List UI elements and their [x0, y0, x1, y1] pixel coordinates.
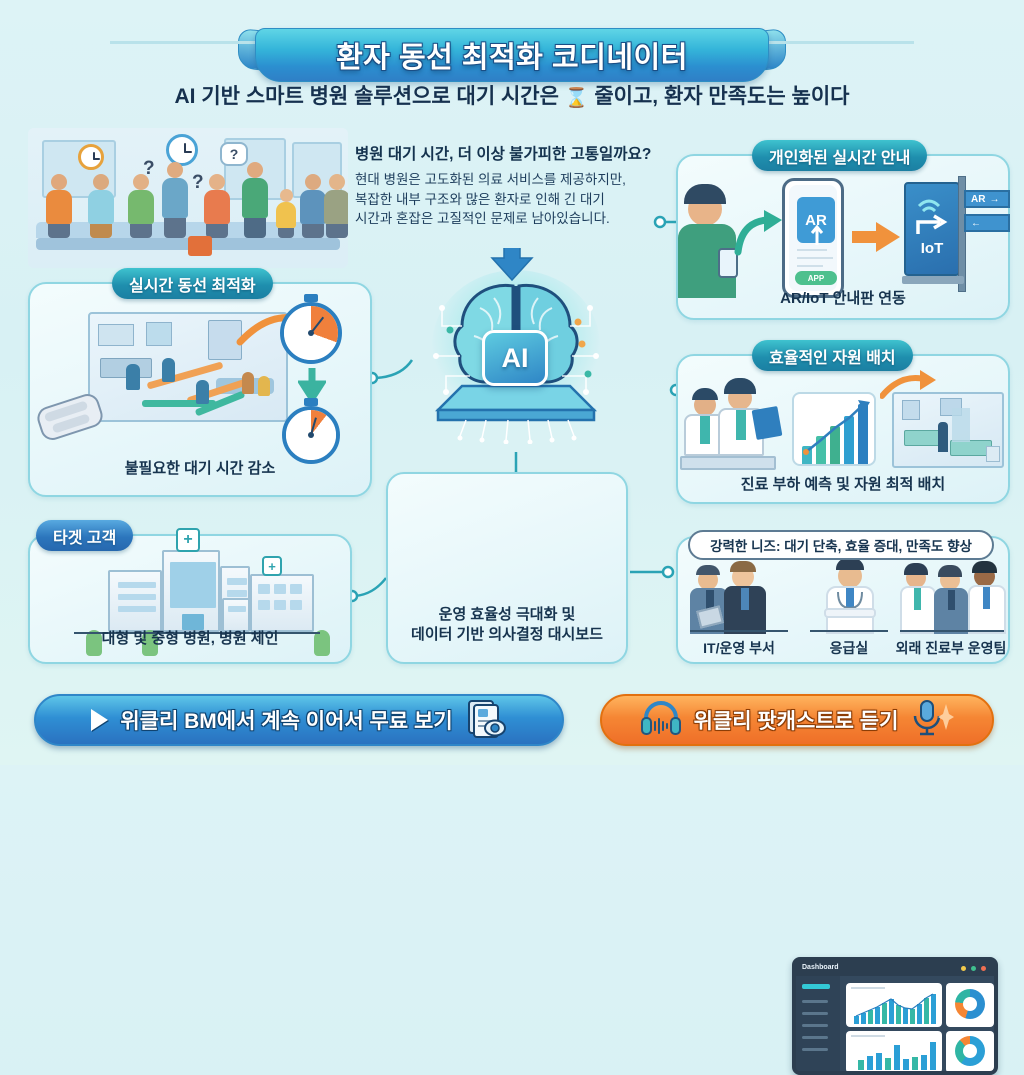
cta-secondary-label: 위클리 팟캐스트로 듣기 [694, 705, 899, 735]
cta-secondary-button[interactable]: 위클리 팟캐스트로 듣기 [600, 694, 994, 746]
play-icon [91, 709, 108, 731]
card-caption-dashboard-1: 운영 효율성 극대화 및 [388, 606, 626, 625]
problem-line-3: 시간과 혼잡은 고질적인 문제로 남아있습니다. [355, 209, 675, 229]
card-pill-resource: 효율적인 자원 배치 [752, 340, 913, 371]
problem-line-1: 현대 병원은 고도화된 의료 서비스를 제공하지만, [355, 170, 675, 190]
persona-label-2: 외래 진료부 운영팀 [892, 638, 1010, 658]
waiting-room-illustration: ? ? ? [28, 128, 348, 268]
problem-line-2: 복잡한 내부 구조와 많은 환자로 인해 긴 대기 [355, 190, 675, 210]
page-title: 환자 동선 최적화 코디네이터 [336, 34, 688, 76]
cta-primary-label: 위클리 BM에서 계속 이어서 무료 보기 [120, 705, 452, 735]
suitcase-icon [188, 236, 212, 256]
chart-panel-bars [846, 1031, 942, 1073]
chart-panel-donut-bottom [946, 1031, 994, 1073]
app-button[interactable]: APP [795, 271, 837, 285]
card-pill-route: 실시간 동선 최적화 [112, 268, 273, 299]
subtitle: AI 기반 스마트 병원 솔루션으로 대기 시간은 ⌛ 줄이고, 환자 만족도는… [0, 80, 1024, 110]
subtitle-before: AI 기반 스마트 병원 솔루션으로 대기 시간은 [175, 85, 559, 108]
persona-it-ops [692, 564, 786, 634]
cta-primary-button[interactable]: 위클리 BM에서 계속 이어서 무료 보기 [34, 694, 564, 746]
subtitle-after: 줄이고, 환자 만족도는 높이다 [594, 85, 849, 108]
robot-hand-icon [34, 391, 105, 443]
hourglass-icon: ⌛ [565, 86, 589, 110]
card-caption-route: 불필요한 대기 시간 감소 [30, 460, 370, 479]
card-resource-allocation[interactable]: 진료 부하 예측 및 자원 최적 배치 [676, 354, 1010, 504]
hospital-cross-icon: + [176, 528, 200, 552]
hospital-cross-icon-2: + [262, 556, 282, 576]
needs-speech-bubble: 강력한 니즈: 대기 단축, 효율 증대, 만족도 향상 [688, 530, 994, 560]
card-caption-dashboard-2: 데이터 기반 의사결정 대시보드 [388, 626, 626, 645]
card-route-optimization[interactable]: 불필요한 대기 시간 감소 [28, 282, 372, 497]
sign-arm-ar: AR → [964, 190, 1010, 208]
chart-panel-trend [846, 983, 942, 1027]
stopwatch-icon-large [280, 302, 342, 364]
infographic-root: 환자 동선 최적화 코디네이터 AI 기반 스마트 병원 솔루션으로 대기 시간… [0, 0, 1024, 765]
iot-label: IoT [906, 240, 958, 257]
ar-phone-mockup: AR APP [782, 178, 844, 298]
headphones-icon [640, 701, 682, 740]
card-caption-resource: 진료 부하 예측 및 자원 최적 배치 [678, 476, 1008, 495]
ai-brain-graphic: AI [418, 248, 614, 444]
microphone-icon [910, 698, 954, 743]
route-path-orange [147, 361, 224, 389]
question-mark-icon-2: ? [192, 172, 204, 194]
resource-chart [792, 392, 876, 466]
needs-speech-text: 강력한 니즈: 대기 단축, 효율 증대, 만족도 향상 [710, 535, 972, 555]
ai-label: AI [502, 343, 529, 374]
card-dashboard[interactable]: Dashboard [386, 472, 628, 664]
dashboard-window-title: Dashboard [802, 964, 839, 971]
card-personalized-guidance[interactable]: AR APP IoT [676, 154, 1010, 320]
persona-label-0: IT/운영 부서 [686, 638, 792, 658]
ai-chip-badge: AI [482, 330, 548, 386]
problem-statement: 병원 대기 시간, 더 이상 불가피한 고통일까요? 현대 병원은 고도화된 의… [355, 142, 675, 229]
title-banner: 환자 동선 최적화 코디네이터 [0, 14, 1024, 70]
chart-panel-donut-top [946, 983, 994, 1027]
dashboard-mockup: Dashboard [792, 957, 998, 1075]
persona-outpatient-team [904, 562, 1004, 634]
wall-clock-icon [78, 144, 104, 170]
card-caption-guidance: AR/IoT 안내판 연동 [678, 290, 1008, 309]
stopwatch-icon-small [282, 406, 340, 464]
persona-emergency [818, 560, 880, 634]
card-pill-guidance: 개인화된 실시간 안내 [752, 140, 927, 171]
problem-heading: 병원 대기 시간, 더 이상 불가피한 고통일까요? [355, 142, 675, 164]
document-eye-icon [465, 698, 507, 743]
sign-arm-left: ← [964, 214, 1010, 232]
iot-signboard: IoT [904, 182, 960, 276]
banner-body: 환자 동선 최적화 코디네이터 [255, 28, 769, 82]
card-caption-target: 대형 및 중형 병원, 병원 체인 [30, 630, 350, 649]
persona-label-1: 응급실 [804, 638, 894, 658]
card-pill-target: 타겟 고객 [36, 520, 133, 551]
card-target-customers[interactable]: + + 대형 및 중형 병원, 병원 체인 [28, 534, 352, 664]
